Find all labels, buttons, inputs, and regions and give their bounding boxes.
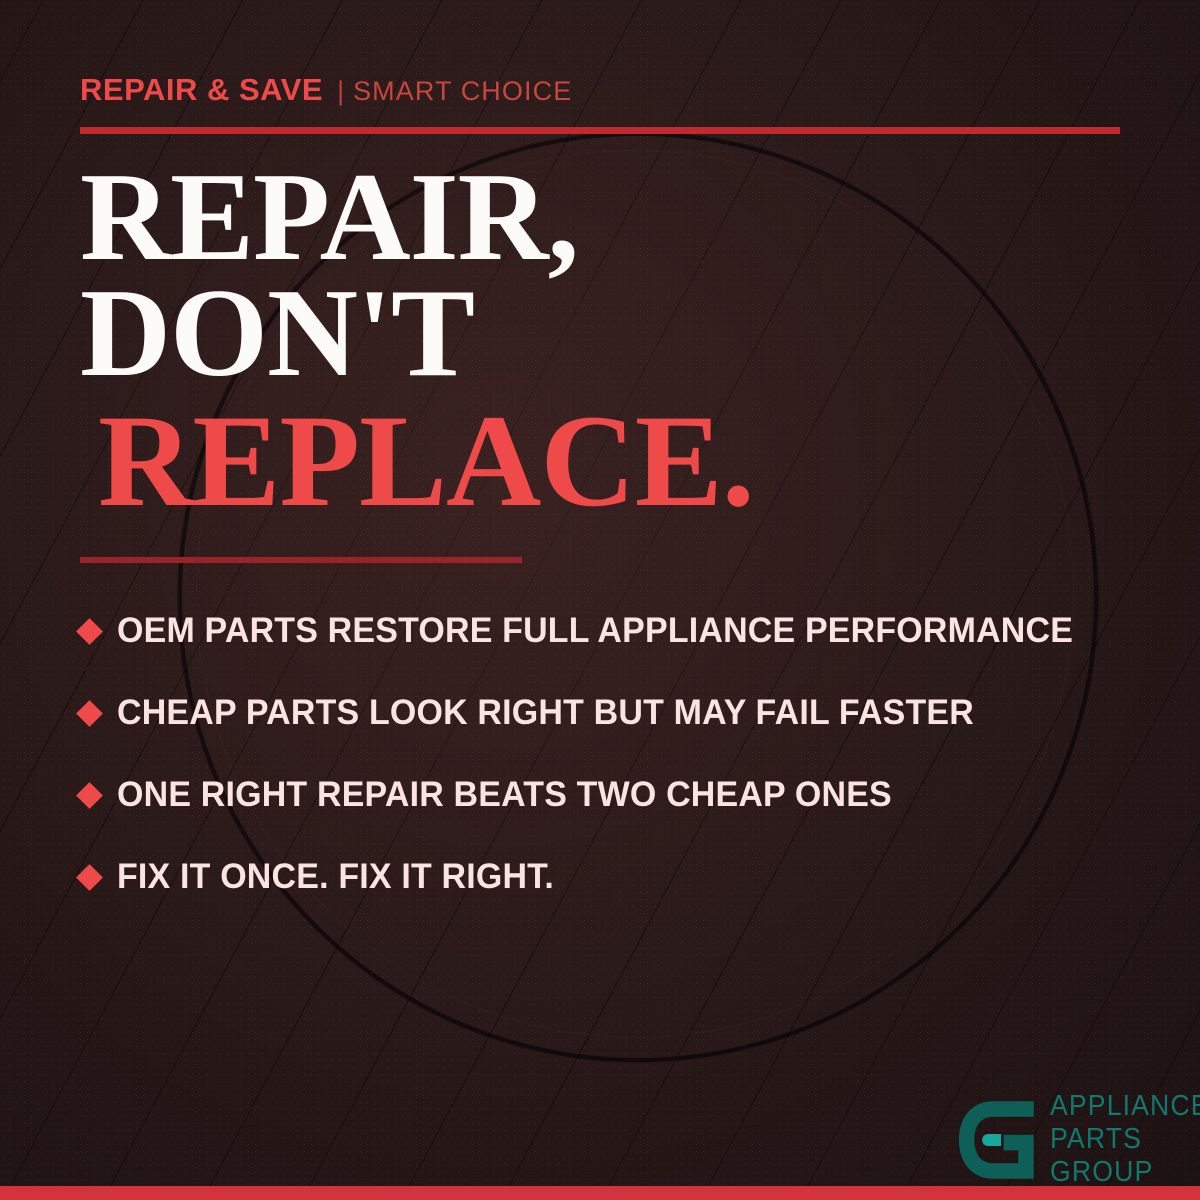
list-item: FIX IT ONCE. FIX IT RIGHT. bbox=[80, 836, 1150, 918]
diamond-bullet-icon bbox=[76, 618, 103, 645]
brand-logo: APPLIANCE PARTS GROUP bbox=[952, 1092, 1200, 1187]
headline-line-2: DON'T bbox=[80, 276, 1140, 392]
brand-word-parts: PARTS bbox=[1050, 1125, 1200, 1154]
kicker-strong-text: REPAIR & SAVE bbox=[80, 74, 323, 105]
headline-block: REPAIR, DON'T REPLACE. bbox=[80, 160, 1140, 521]
list-item: CHEAP PARTS LOOK RIGHT BUT MAY FAIL FAST… bbox=[80, 672, 1150, 754]
diamond-bullet-icon bbox=[76, 700, 103, 727]
diamond-bullet-icon bbox=[76, 864, 103, 891]
poster-canvas: REPAIR & SAVE | SMART CHOICE REPAIR, DON… bbox=[0, 0, 1200, 1200]
list-item-label: OEM PARTS RESTORE FULL APPLIANCE PERFORM… bbox=[117, 611, 1073, 651]
bottom-accent-bar bbox=[0, 1186, 1200, 1200]
benefit-list: OEM PARTS RESTORE FULL APPLIANCE PERFORM… bbox=[80, 590, 1150, 918]
list-item-label: CHEAP PARTS LOOK RIGHT BUT MAY FAIL FAST… bbox=[117, 693, 974, 733]
brand-word-appliance: APPLIANCE bbox=[1050, 1092, 1200, 1121]
divider-middle bbox=[80, 557, 522, 563]
divider-top bbox=[80, 127, 1120, 134]
list-item-label: ONE RIGHT REPAIR BEATS TWO CHEAP ONES bbox=[117, 775, 892, 815]
headline-line-3: REPLACE. bbox=[80, 400, 1140, 521]
brand-wordmark: APPLIANCE PARTS GROUP bbox=[1050, 1092, 1200, 1187]
letter-g-monogram-icon bbox=[952, 1097, 1038, 1183]
diamond-bullet-icon bbox=[76, 782, 103, 809]
kicker-separator: | bbox=[337, 78, 344, 105]
list-item: ONE RIGHT REPAIR BEATS TWO CHEAP ONES bbox=[80, 754, 1150, 836]
brand-word-group: GROUP bbox=[1050, 1158, 1200, 1187]
list-item-label: FIX IT ONCE. FIX IT RIGHT. bbox=[117, 857, 554, 897]
list-item: OEM PARTS RESTORE FULL APPLIANCE PERFORM… bbox=[80, 590, 1150, 672]
headline-line-1: REPAIR, bbox=[80, 160, 1140, 276]
kicker-light-text: SMART CHOICE bbox=[353, 78, 572, 105]
kicker-eyebrow: REPAIR & SAVE | SMART CHOICE bbox=[80, 74, 572, 105]
